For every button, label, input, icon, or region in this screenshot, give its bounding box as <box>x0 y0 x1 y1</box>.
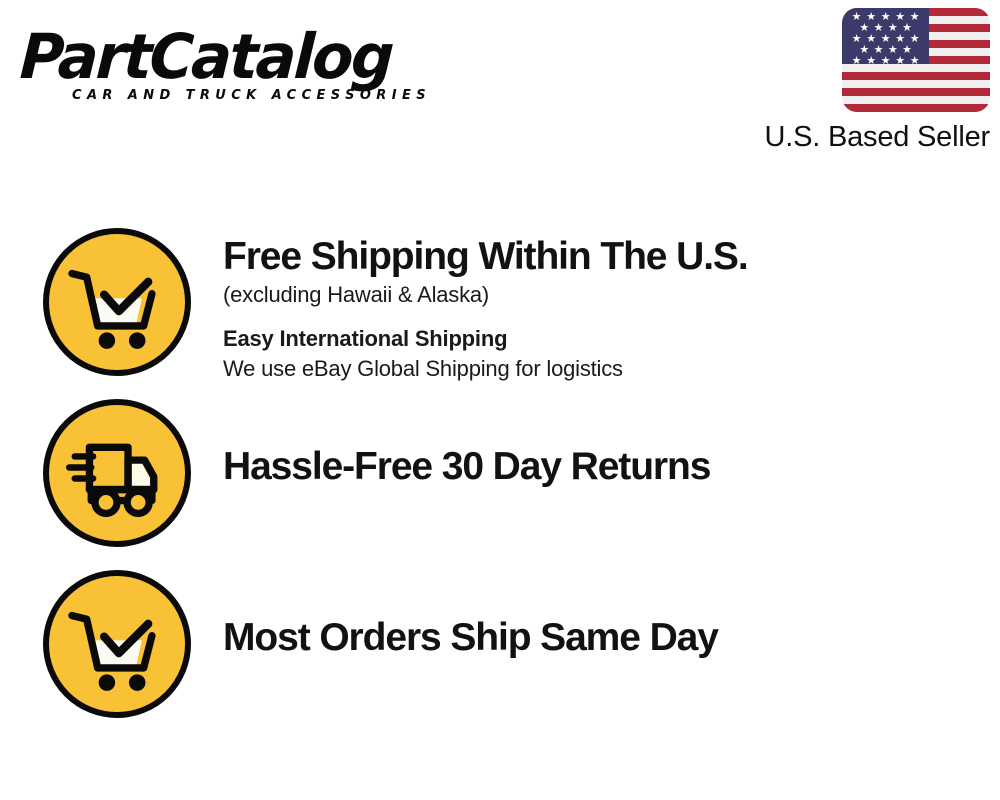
feature-text: Hassle-Free 30 Day Returns <box>223 444 983 490</box>
delivery-truck-icon <box>43 399 191 547</box>
brand-wordmark: PartCatalog <box>18 22 477 92</box>
brand-logo[interactable]: PartCatalog CAR AND TRUCK ACCESSORIES <box>22 22 492 114</box>
seller-badge: ★★★★★ ★★★★ ★★★★★ ★★★★ ★★★★★ U.S. Based S… <box>690 8 990 154</box>
feature-text: Free Shipping Within The U.S. (excluding… <box>223 234 983 384</box>
shopping-cart-check-icon <box>43 570 191 718</box>
promo-banner: PartCatalog CAR AND TRUCK ACCESSORIES ★★… <box>0 0 1000 800</box>
feature-substrong: Easy International Shipping <box>223 324 983 354</box>
feature-heading: Most Orders Ship Same Day <box>223 615 983 661</box>
feature-subdetail: We use eBay Global Shipping for logistic… <box>223 354 983 384</box>
feature-list: Free Shipping Within The U.S. (excluding… <box>0 228 1000 741</box>
feature-row: Free Shipping Within The U.S. (excluding… <box>0 228 1000 399</box>
feature-subnote: (excluding Hawaii & Alaska) <box>223 280 983 310</box>
feature-heading: Hassle-Free 30 Day Returns <box>223 444 983 490</box>
flag-stars: ★★★★★ ★★★★ ★★★★★ ★★★★ ★★★★★ <box>842 8 929 64</box>
feature-row: Hassle-Free 30 Day Returns <box>0 399 1000 570</box>
us-flag-icon: ★★★★★ ★★★★ ★★★★★ ★★★★ ★★★★★ <box>842 8 990 112</box>
feature-text: Most Orders Ship Same Day <box>223 615 983 661</box>
feature-row: Most Orders Ship Same Day <box>0 570 1000 741</box>
shopping-cart-check-icon <box>43 228 191 376</box>
seller-label: U.S. Based Seller <box>690 121 990 154</box>
feature-heading: Free Shipping Within The U.S. <box>223 234 983 280</box>
